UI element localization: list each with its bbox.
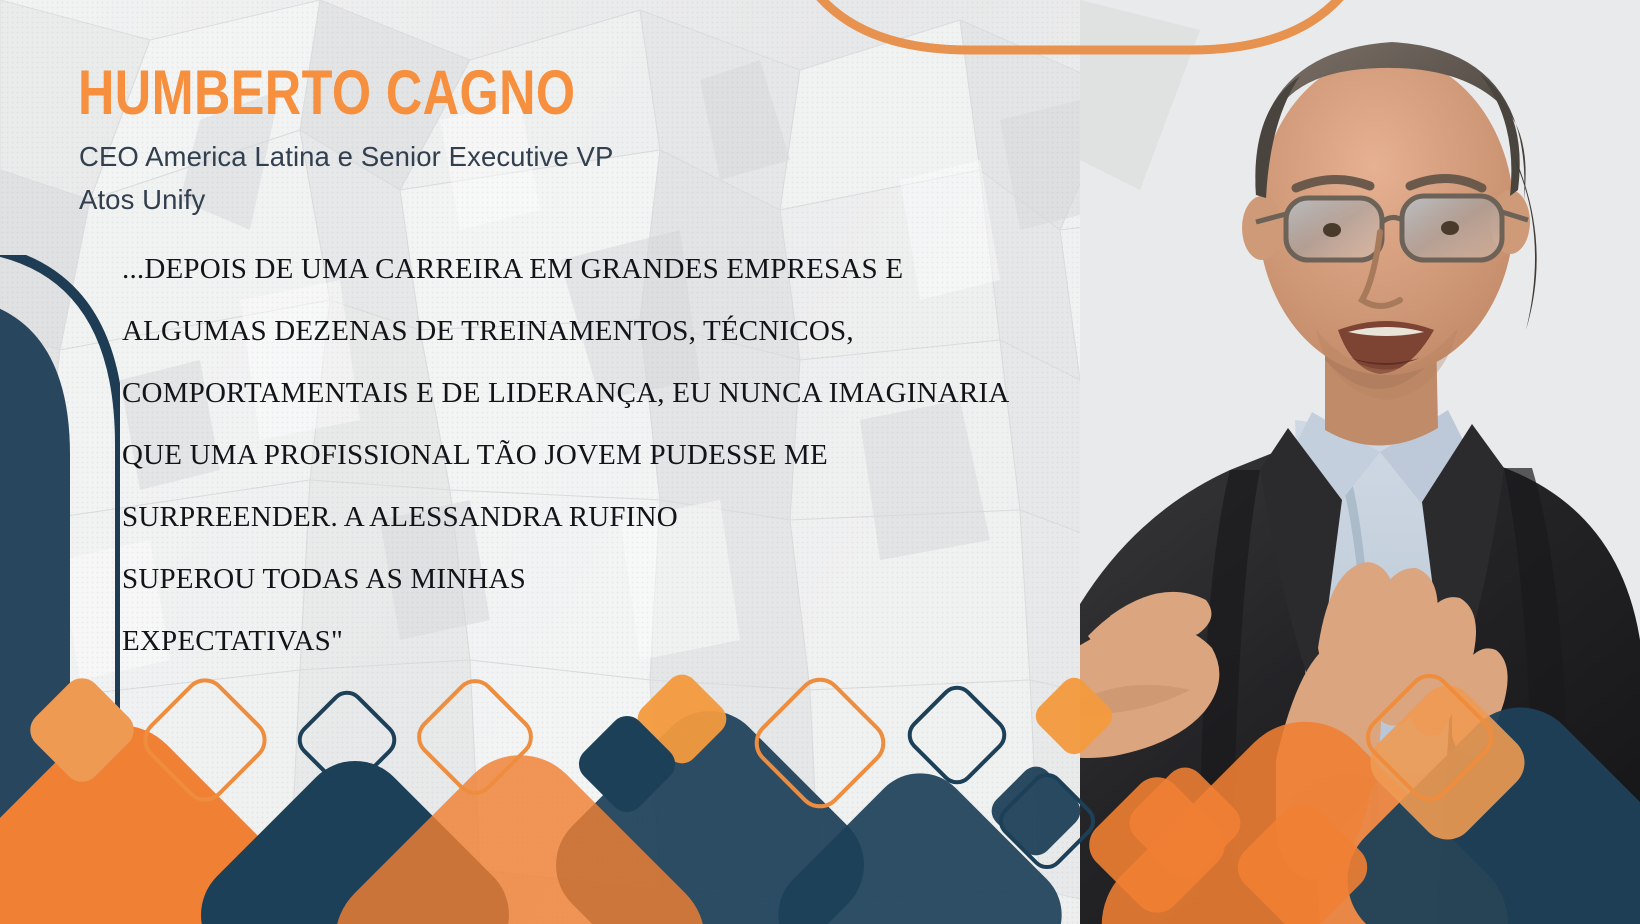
quote-line: COMPORTAMENTAIS E DE LIDERANÇA, EU NUNCA… [122,362,1102,424]
person-role: CEO America Latina e Senior Executive VP [79,139,613,174]
quote-line: QUE UMA PROFISSIONAL TÃO JOVEM PUDESSE M… [122,424,1102,486]
quote-line: ALGUMAS DEZENAS DE TREINAMENTOS, TÉCNICO… [122,300,1102,362]
quote-line: ...DEPOIS DE UMA CARREIRA EM GRANDES EMP… [122,238,1102,300]
quote-line: EXPECTATIVAS" [122,610,1102,672]
page-title: HUMBERTO CAGNO [78,62,575,125]
text-block: HUMBERTO CAGNO CEO America Latina e Seni… [0,0,1120,924]
quote-line: SURPREENDER. A ALESSANDRA RUFINO [122,486,1102,548]
person-company: Atos Unify [79,182,205,217]
testimonial-slide: HUMBERTO CAGNO CEO America Latina e Seni… [0,0,1640,924]
testimonial-quote: ...DEPOIS DE UMA CARREIRA EM GRANDES EMP… [122,238,1102,672]
quote-line: SUPEROU TODAS AS MINHAS [122,548,1102,610]
